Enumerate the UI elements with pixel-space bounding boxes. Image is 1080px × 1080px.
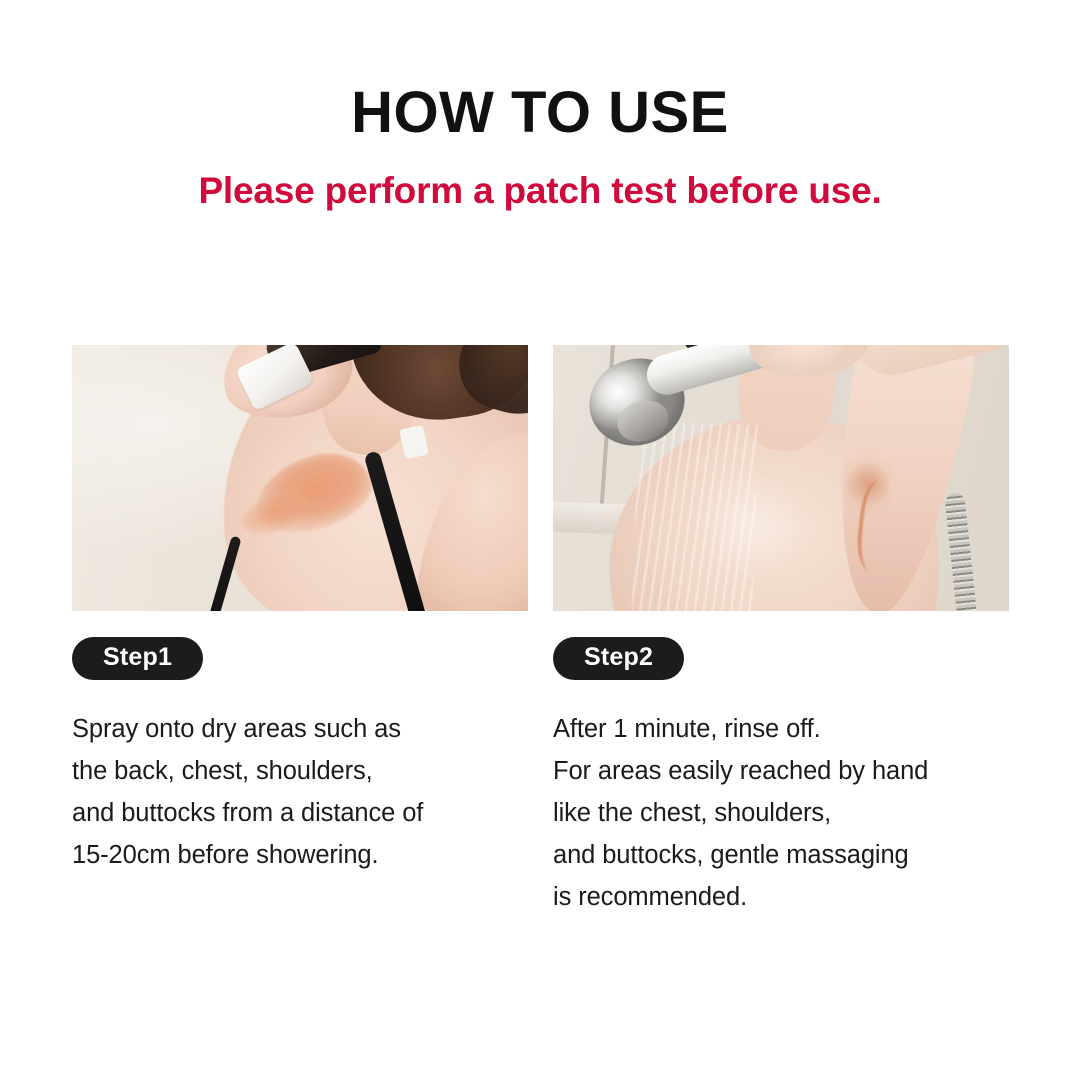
water-stream	[632, 421, 759, 611]
step-card-2: Step2 After 1 minute, rinse off. For are…	[553, 345, 1009, 918]
step2-badge: Step2	[553, 637, 684, 680]
patch-test-warning: Please perform a patch test before use.	[0, 142, 1080, 209]
step-card-1: Step1 Spray onto dry areas such as the b…	[72, 345, 528, 918]
step1-badge: Step1	[72, 637, 203, 680]
step2-description: After 1 minute, rinse off. For areas eas…	[553, 680, 1009, 918]
steps-container: Step1 Spray onto dry areas such as the b…	[72, 345, 1008, 918]
step2-photo	[553, 345, 1009, 611]
step1-photo	[72, 345, 528, 611]
header-block: HOW TO USE Please perform a patch test b…	[0, 0, 1080, 209]
page-title: HOW TO USE	[0, 0, 1080, 142]
how-to-use-infographic: HOW TO USE Please perform a patch test b…	[0, 0, 1080, 1080]
step1-description: Spray onto dry areas such as the back, c…	[72, 680, 528, 876]
